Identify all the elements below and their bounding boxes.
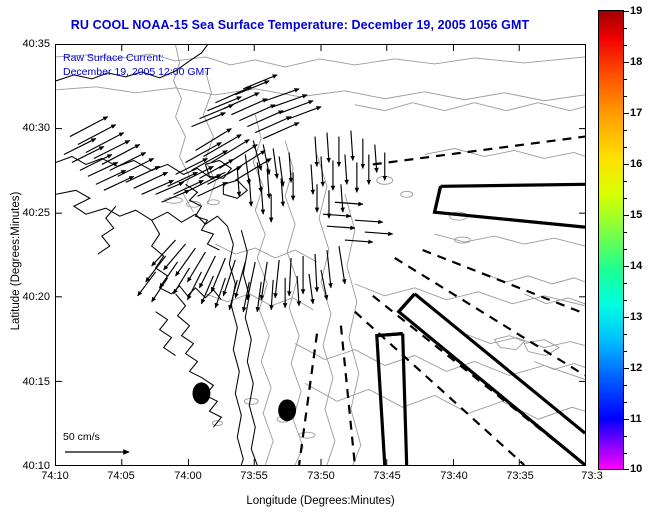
cbar-tick-11 <box>624 419 629 420</box>
surface-current-vectors <box>64 75 393 312</box>
figure-title: RU COOL NOAA-15 Sea Surface Temperature:… <box>0 18 600 32</box>
cbar-minor-4 <box>624 96 627 97</box>
cbar-minor-10 <box>624 249 627 250</box>
bathymetry-contours <box>56 45 585 465</box>
cbar-minor-15 <box>624 385 627 386</box>
sst-map-figure: RU COOL NOAA-15 Sea Surface Temperature:… <box>0 0 651 519</box>
cbar-tick-15 <box>624 215 629 216</box>
y-tick-0: 40:35 <box>10 38 50 50</box>
map-plot-area: Raw Surface Current: December 19, 2005 1… <box>55 44 586 466</box>
cbar-label-12: 12 <box>630 362 642 374</box>
coastline <box>56 45 257 465</box>
cbar-tick-19 <box>624 11 629 12</box>
y-tick-1: 40:30 <box>10 122 50 134</box>
cbar-tick-10 <box>624 469 629 470</box>
x-tick-7: 73:35 <box>506 470 534 482</box>
cbar-tick-14 <box>624 266 629 267</box>
y-axis-title: Latitude (Degrees:Minutes) <box>10 161 22 361</box>
axis-ticks <box>56 45 585 465</box>
vector-scale-arrow <box>63 443 173 461</box>
cbar-minor-12 <box>624 300 627 301</box>
cbar-label-17: 17 <box>630 107 642 119</box>
cbar-minor-13 <box>624 334 627 335</box>
cbar-label-14: 14 <box>630 260 642 272</box>
cbar-minor-7 <box>624 181 627 182</box>
x-tick-8: 73:3 <box>581 470 602 482</box>
vector-scale-label: 50 cm/s <box>63 431 183 443</box>
map-canvas <box>56 45 585 465</box>
cbar-minor-1 <box>624 28 627 29</box>
cbar-label-11: 11 <box>630 413 642 425</box>
x-axis-title: Longitude (Degrees:Minutes) <box>55 495 586 507</box>
cbar-minor-14 <box>624 351 627 352</box>
cbar-tick-13 <box>624 317 629 318</box>
cbar-label-15: 15 <box>630 209 642 221</box>
cbar-minor-18 <box>624 453 627 454</box>
cbar-minor-6 <box>624 147 627 148</box>
annotation-line-1: Raw Surface Current: <box>63 51 211 65</box>
cbar-label-18: 18 <box>630 56 642 68</box>
annotation-line-2: December 19, 2005 12:00 GMT <box>63 65 211 79</box>
cbar-minor-8 <box>624 198 627 199</box>
cbar-label-13: 13 <box>630 311 642 323</box>
x-tick-5: 73:45 <box>373 470 401 482</box>
cbar-minor-16 <box>624 402 627 403</box>
cbar-tick-16 <box>624 164 629 165</box>
cbar-minor-17 <box>624 436 627 437</box>
cbar-tick-17 <box>624 113 629 114</box>
y-tick-5: 40:10 <box>10 460 50 472</box>
temperature-colorbar <box>598 10 624 470</box>
x-tick-2: 74:00 <box>174 470 202 482</box>
vector-scale-key: 50 cm/s <box>63 431 183 465</box>
shipping-lane-corridors <box>377 184 585 465</box>
x-tick-6: 73:40 <box>440 470 468 482</box>
x-tick-1: 74:05 <box>107 470 135 482</box>
cbar-minor-3 <box>624 79 627 80</box>
cbar-minor-11 <box>624 283 627 284</box>
cbar-minor-5 <box>624 130 627 131</box>
cbar-tick-18 <box>624 62 629 63</box>
cbar-tick-12 <box>624 368 629 369</box>
cbar-label-19: 19 <box>630 5 642 17</box>
cbar-label-10: 10 <box>630 463 642 475</box>
y-tick-4: 40:15 <box>10 376 50 388</box>
current-annotation: Raw Surface Current: December 19, 2005 1… <box>63 51 211 79</box>
x-tick-4: 73:50 <box>307 470 335 482</box>
cbar-minor-9 <box>624 232 627 233</box>
cbar-minor-2 <box>624 45 627 46</box>
cbar-label-16: 16 <box>630 158 642 170</box>
x-tick-3: 73:55 <box>240 470 268 482</box>
